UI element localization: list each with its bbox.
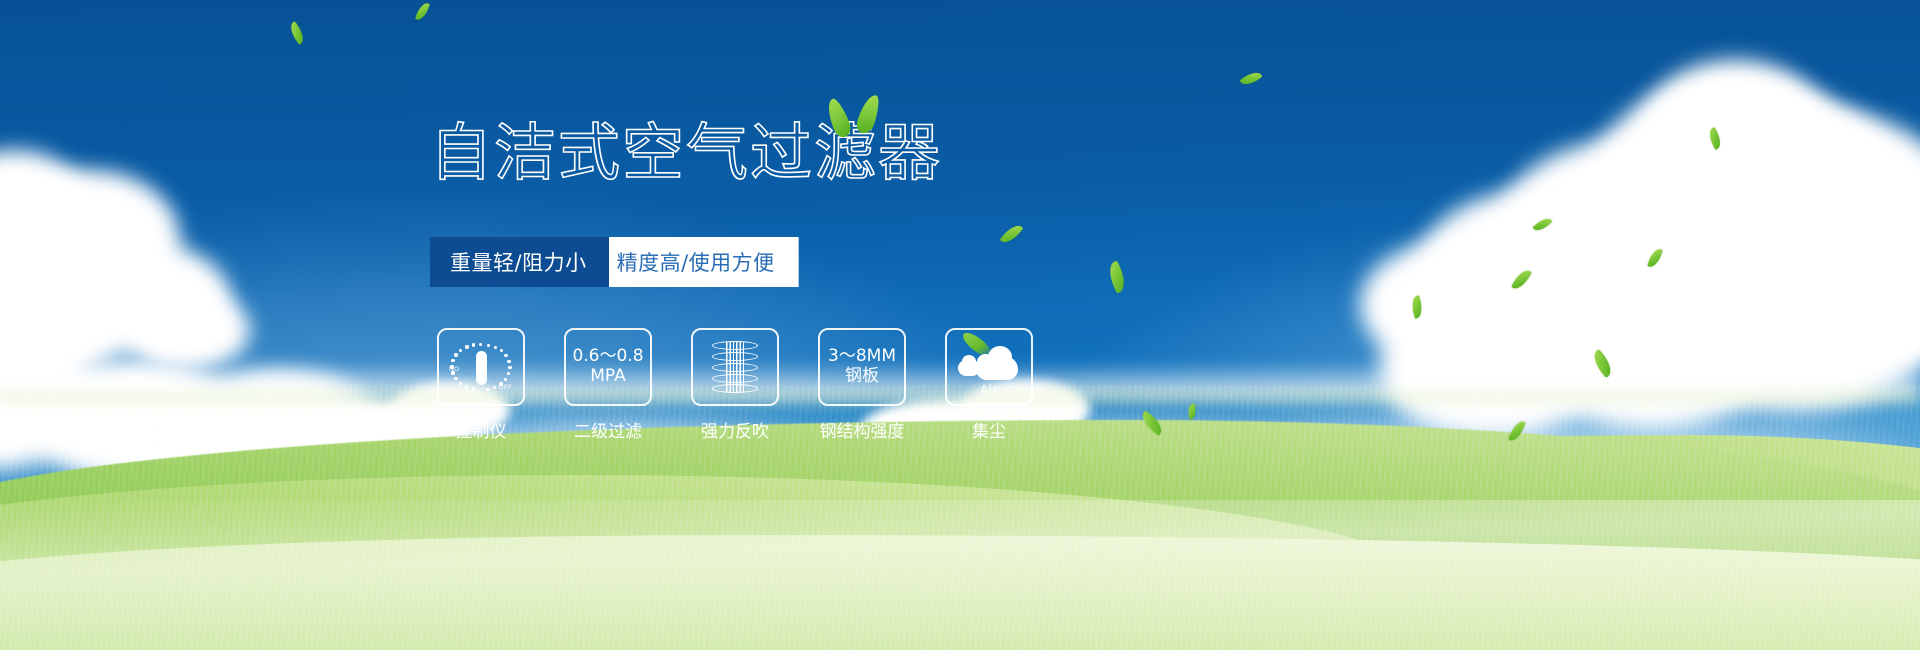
feature-box-line2: 钢板 bbox=[845, 367, 879, 387]
feature-icon-box bbox=[691, 328, 779, 406]
feature-item-strong-blowback[interactable]: 强力反吹 bbox=[691, 328, 779, 442]
feature-icon-box: Air bbox=[945, 328, 1033, 406]
gauge-switch-icon: NO OFF bbox=[450, 339, 512, 395]
feature-box-line2: MPA bbox=[590, 367, 625, 387]
feature-tag-bar: 重量轻/阻力小 精度高/使用方便 bbox=[430, 237, 799, 287]
feature-item-two-stage-filtration[interactable]: 0.6～0.8 MPA 二级过滤 bbox=[564, 328, 652, 442]
feature-caption: 二级过滤 bbox=[574, 417, 642, 442]
feature-icon-box: 3～8MM 钢板 bbox=[818, 328, 906, 406]
feature-box-line1: 3～8MM bbox=[828, 347, 896, 367]
feature-caption: 集尘 bbox=[972, 417, 1006, 442]
banner-content: 自洁式空气过滤器 重量轻/阻力小 精度高/使用方便 bbox=[0, 0, 1920, 650]
feature-icon-box: 0.6～0.8 MPA bbox=[564, 328, 652, 406]
feature-caption: 强力反吹 bbox=[701, 417, 769, 442]
feature-icon-box: NO OFF bbox=[437, 328, 525, 406]
gauge-needle bbox=[476, 351, 487, 385]
title-block: 自洁式空气过滤器 bbox=[430, 122, 942, 184]
title-leaf-decoration bbox=[828, 94, 888, 140]
feature-caption: 控制仪 bbox=[456, 417, 507, 442]
filter-coil-icon bbox=[712, 339, 758, 395]
feature-item-controller[interactable]: NO OFF 控制仪 bbox=[437, 328, 525, 442]
feature-item-steel-strength[interactable]: 3～8MM 钢板 钢结构强度 bbox=[818, 328, 906, 442]
feature-caption: 钢结构强度 bbox=[820, 417, 905, 442]
hero-banner: 自洁式空气过滤器 重量轻/阻力小 精度高/使用方便 bbox=[0, 0, 1920, 650]
feature-list: NO OFF 控制仪 0.6～0.8 MPA 二级过滤 bbox=[437, 328, 1033, 442]
feature-item-dust-collection[interactable]: Air 集尘 bbox=[945, 328, 1033, 442]
leaf-icon bbox=[823, 96, 854, 139]
feature-box-line1: 0.6～0.8 bbox=[572, 347, 643, 367]
air-label: Air bbox=[958, 383, 1020, 397]
cloud-air-icon: Air bbox=[958, 340, 1020, 394]
tag-highprecision-easyuse[interactable]: 精度高/使用方便 bbox=[587, 237, 799, 287]
gauge-off-label: OFF bbox=[499, 383, 513, 391]
tag-lightweight-lowresistance[interactable]: 重量轻/阻力小 bbox=[430, 237, 609, 287]
gauge-on-label: NO bbox=[449, 365, 460, 373]
leaf-icon bbox=[854, 92, 883, 135]
